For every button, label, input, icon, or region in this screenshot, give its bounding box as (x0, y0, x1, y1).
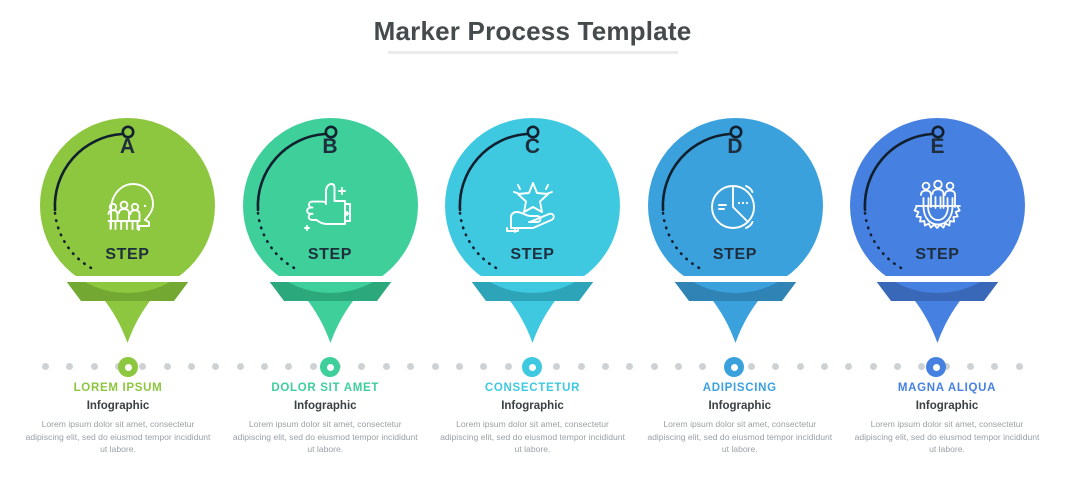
timeline-dot (772, 363, 779, 370)
timeline-dot (261, 363, 268, 370)
timeline-dot (212, 363, 219, 370)
pin-step-label-c: STEP (445, 246, 620, 264)
timeline-dot (285, 363, 292, 370)
timeline-dot (91, 363, 98, 370)
timeline-dot (237, 363, 244, 370)
caption-title-a: LOREM IPSUM (18, 380, 218, 396)
timeline-dot (310, 363, 317, 370)
caption-subtitle-d: Infographic (640, 399, 840, 414)
pin-letter-d: D (648, 135, 823, 159)
timeline-dot (797, 363, 804, 370)
caption-subtitle-a: Infographic (18, 399, 218, 414)
timeline-dot (139, 363, 146, 370)
caption-title-d: ADIPISCING (640, 380, 840, 396)
pin-letter-a: A (40, 135, 215, 159)
timeline-dot (821, 363, 828, 370)
timeline-dot (383, 363, 390, 370)
timeline-dot (188, 363, 195, 370)
hand-holding-star-icon (445, 170, 620, 244)
timeline-track (0, 357, 1065, 375)
caption-row: LOREM IPSUM Infographic Lorem ipsum dolo… (0, 380, 1065, 456)
timeline-dot (505, 363, 512, 370)
infographic-canvas: Marker Process Template A (0, 0, 1065, 500)
marker-step-c[interactable]: C STEP (445, 118, 620, 343)
caption-block-a: LOREM IPSUM Infographic Lorem ipsum dolo… (18, 380, 218, 456)
pin-letter-c: C (445, 135, 620, 159)
page-title-block: Marker Process Template (0, 14, 1065, 54)
timeline-dot (42, 363, 49, 370)
timeline-dot (967, 363, 974, 370)
timeline-dot (626, 363, 633, 370)
caption-subtitle-b: Infographic (225, 399, 425, 414)
timeline-dot (918, 363, 925, 370)
pin-step-label-b: STEP (243, 246, 418, 264)
pin-shape-b: B STEP (243, 118, 418, 343)
caption-body-e: Lorem ipsum dolor sit amet, consectetur … (847, 418, 1047, 456)
timeline-dot (358, 363, 365, 370)
caption-block-b: DOLOR SIT AMET Infographic Lorem ipsum d… (225, 380, 425, 456)
timeline-dot (553, 363, 560, 370)
marker-step-a[interactable]: A STEP (40, 118, 215, 343)
caption-body-b: Lorem ipsum dolor sit amet, consectetur … (225, 418, 425, 456)
caption-title-e: MAGNA ALIQUA (847, 380, 1047, 396)
caption-block-e: MAGNA ALIQUA Infographic Lorem ipsum dol… (847, 380, 1047, 456)
pin-letter-e: E (850, 135, 1025, 159)
caption-block-d: ADIPISCING Infographic Lorem ipsum dolor… (640, 380, 840, 456)
timeline-dot (407, 363, 414, 370)
marker-step-b[interactable]: B STEP (243, 118, 418, 343)
title-underline (388, 51, 678, 54)
pin-letter-b: B (243, 135, 418, 159)
timeline-dot (602, 363, 609, 370)
timeline-dot (991, 363, 998, 370)
timeline-node-e[interactable] (926, 357, 946, 377)
pin-shape-c: C STEP (445, 118, 620, 343)
timeline-dot (651, 363, 658, 370)
timeline-dot (66, 363, 73, 370)
timeline-dot (894, 363, 901, 370)
timeline-dot (748, 363, 755, 370)
caption-body-c: Lorem ipsum dolor sit amet, consectetur … (433, 418, 633, 456)
people-gear-icon (850, 170, 1025, 244)
timeline-dot (1016, 363, 1023, 370)
caption-body-a: Lorem ipsum dolor sit amet, consectetur … (18, 418, 218, 456)
thumbs-up-icon (243, 170, 418, 244)
caption-title-c: CONSECTETUR (433, 380, 633, 396)
timeline-dot (432, 363, 439, 370)
marker-step-e[interactable]: E (850, 118, 1025, 343)
caption-subtitle-e: Infographic (847, 399, 1047, 414)
page-title: Marker Process Template (0, 14, 1065, 48)
marker-row: A STEP (0, 118, 1065, 343)
pin-step-label-e: STEP (850, 246, 1025, 264)
caption-title-b: DOLOR SIT AMET (225, 380, 425, 396)
timeline-dot (870, 363, 877, 370)
caption-subtitle-c: Infographic (433, 399, 633, 414)
marker-step-d[interactable]: D STEP (648, 118, 823, 343)
timeline-node-a[interactable] (118, 357, 138, 377)
pin-shape-a: A STEP (40, 118, 215, 343)
pin-shape-e: E (850, 118, 1025, 343)
timeline-node-d[interactable] (724, 357, 744, 377)
timeline-node-b[interactable] (320, 357, 340, 377)
caption-body-d: Lorem ipsum dolor sit amet, consectetur … (640, 418, 840, 456)
timeline-node-c[interactable] (522, 357, 542, 377)
timeline-dot (578, 363, 585, 370)
timeline-dot (480, 363, 487, 370)
pin-step-label-d: STEP (648, 246, 823, 264)
caption-block-c: CONSECTETUR Infographic Lorem ipsum dolo… (433, 380, 633, 456)
pin-step-label-a: STEP (40, 246, 215, 264)
timeline-dot (164, 363, 171, 370)
pie-chart-icon (648, 170, 823, 244)
timeline-dot (699, 363, 706, 370)
pin-shape-d: D STEP (648, 118, 823, 343)
timeline-dot (845, 363, 852, 370)
timeline-dot (456, 363, 463, 370)
timeline-dot (675, 363, 682, 370)
head-with-people-icon (40, 170, 215, 244)
